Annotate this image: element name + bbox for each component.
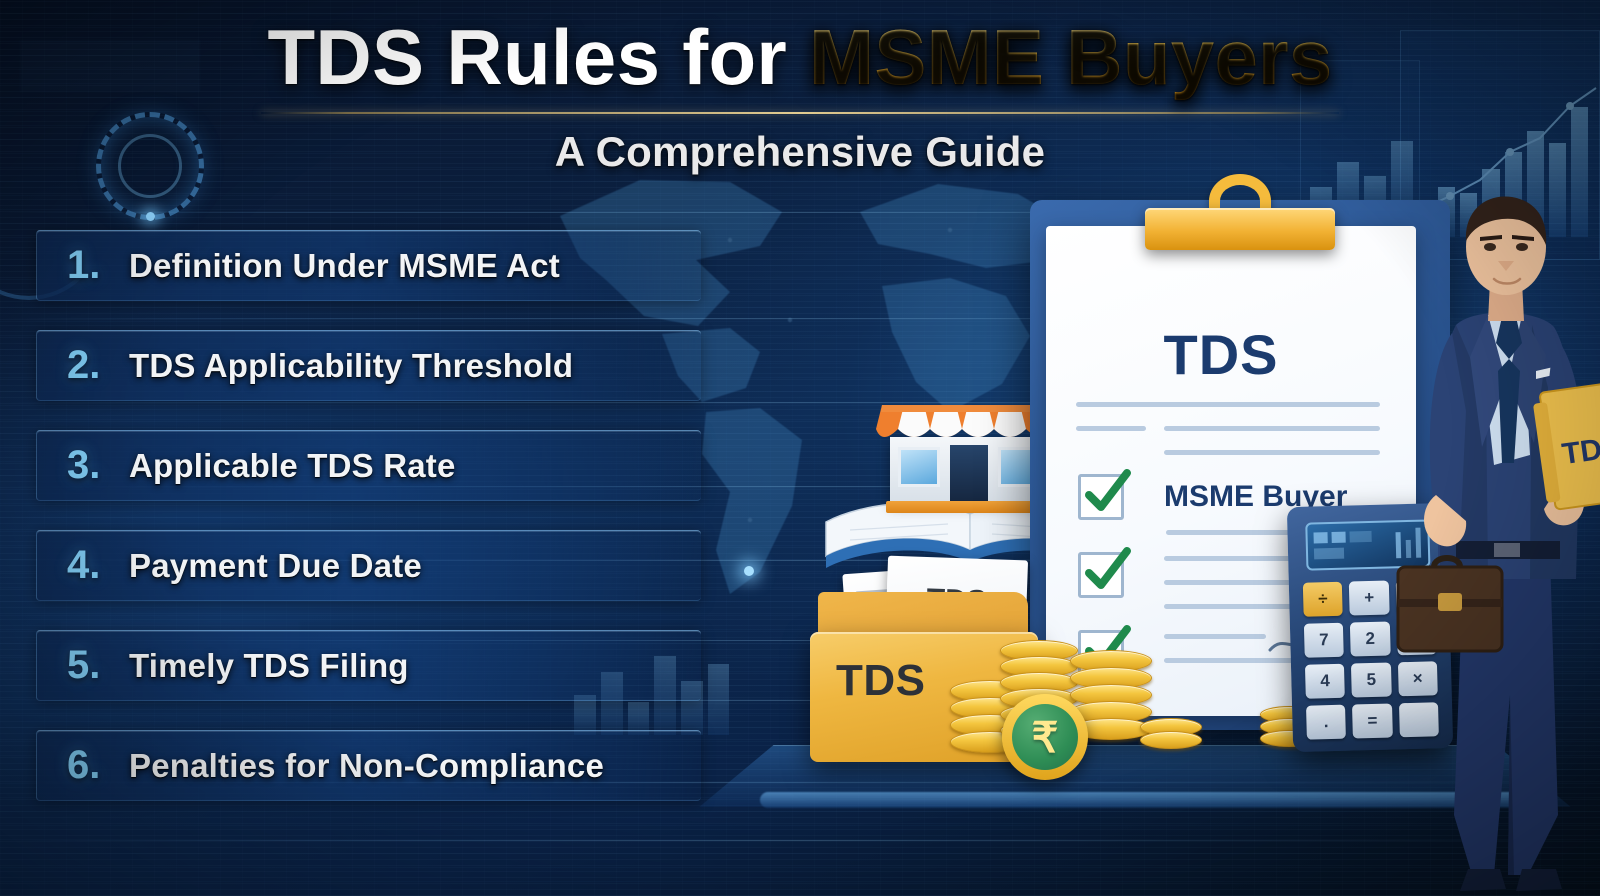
list-item[interactable]: 5. Timely TDS Filing	[36, 630, 701, 701]
list-item-label: Payment Due Date	[129, 547, 422, 585]
list-item-label: TDS Applicability Threshold	[129, 347, 573, 385]
calculator-key[interactable]: +	[1349, 581, 1389, 616]
calculator-key[interactable]: 4	[1305, 664, 1345, 699]
list-item-number: 2.	[67, 343, 129, 388]
infographic-poster: TDS Rules for MSME Buyers A Comprehensiv…	[0, 0, 1600, 896]
calculator-key[interactable]: 7	[1304, 623, 1344, 658]
rupee-symbol: ₹	[1012, 704, 1078, 770]
clipboard-rule	[1164, 450, 1380, 455]
title-accent: MSME Buyers	[809, 13, 1332, 101]
title-primary: TDS Rules for	[267, 13, 809, 101]
folder-label: TDS	[836, 656, 926, 706]
businessman-figure: TDS	[1390, 175, 1600, 895]
calculator-key[interactable]: 2	[1350, 621, 1390, 656]
clipboard-rule	[1164, 634, 1266, 639]
hud-dot-icon	[146, 212, 155, 221]
check-icon	[1077, 463, 1135, 521]
calculator-key[interactable]: =	[1352, 703, 1392, 738]
clipboard-rule	[1164, 604, 1306, 609]
poster-header: TDS Rules for MSME Buyers A Comprehensiv…	[0, 18, 1600, 176]
list-item-number: 3.	[67, 443, 129, 488]
calculator-key[interactable]: 5	[1351, 662, 1391, 697]
clipboard-rule	[1076, 402, 1380, 407]
clipboard-rule	[1164, 658, 1296, 663]
list-item-label: Timely TDS Filing	[129, 647, 409, 685]
list-item-number: 1.	[67, 243, 129, 288]
topics-list: 1. Definition Under MSME Act 2. TDS Appl…	[36, 230, 701, 801]
list-item[interactable]: 4. Payment Due Date	[36, 530, 701, 601]
title-divider	[261, 112, 1339, 114]
page-title: TDS Rules for MSME Buyers	[0, 18, 1600, 98]
clipboard-rule	[1076, 426, 1146, 431]
clipboard-heading: TDS	[1046, 322, 1396, 387]
list-item[interactable]: 6. Penalties for Non-Compliance	[36, 730, 701, 801]
list-item[interactable]: 1. Definition Under MSME Act	[36, 230, 701, 301]
list-item-label: Penalties for Non-Compliance	[129, 747, 604, 785]
list-item-number: 5.	[67, 643, 129, 688]
list-item-number: 6.	[67, 743, 129, 788]
list-item-label: Definition Under MSME Act	[129, 247, 560, 285]
clipboard-rule	[1164, 426, 1380, 431]
list-item[interactable]: 2. TDS Applicability Threshold	[36, 330, 701, 401]
calculator-key[interactable]: ÷	[1303, 582, 1343, 617]
list-item-number: 4.	[67, 543, 129, 588]
list-item-label: Applicable TDS Rate	[129, 447, 456, 485]
clipboard-clip-icon	[1145, 208, 1335, 250]
calculator-key[interactable]: .	[1306, 705, 1346, 740]
check-icon	[1077, 541, 1135, 599]
checkbox-checked[interactable]	[1078, 474, 1124, 520]
checkbox-checked[interactable]	[1078, 552, 1124, 598]
page-subtitle: A Comprehensive Guide	[0, 128, 1600, 176]
rupee-coin-badge: ₹	[1002, 694, 1088, 780]
list-item[interactable]: 3. Applicable TDS Rate	[36, 430, 701, 501]
